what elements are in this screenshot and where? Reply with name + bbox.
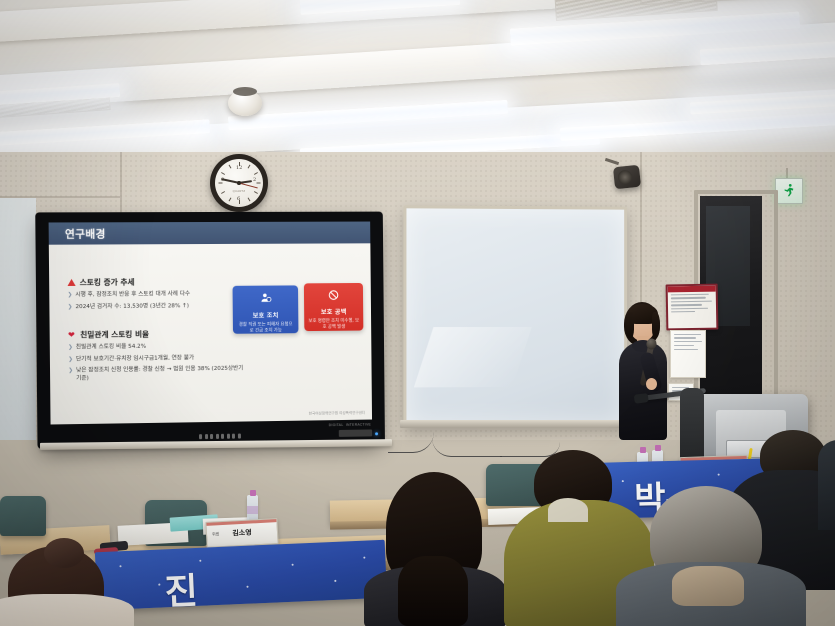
- card-title: 보호 공백: [308, 307, 359, 316]
- bullet-item: ❯ 2024년 검거자 수: 13,530명 (3년간 28% ↑): [68, 302, 239, 311]
- face-profile: [672, 566, 744, 606]
- ceiling-dome-sensor: [228, 90, 262, 116]
- heart-icon: ❤: [68, 331, 76, 339]
- wall-speaker: [613, 165, 641, 190]
- user-shield-icon: [237, 291, 295, 307]
- clock-brand: QUARTZ: [233, 189, 246, 193]
- chevron-right-icon: ❯: [68, 292, 73, 300]
- card-subtitle: 보호 명령만 조치 미수행, 보호 공백 발생: [308, 319, 359, 332]
- bullet-item: ❯ 시행 후, 잠정조치 반응 후 스토킹 대개 사례 다수: [68, 291, 239, 300]
- slide-footer: 한국여성정책연구원 여성폭력연구센터: [309, 411, 365, 417]
- placard-name: 김소영: [232, 528, 252, 539]
- display-control-buttons[interactable]: [199, 434, 240, 440]
- slide-screen: 연구배경 스토킹 증가 추세 ❯ 시행 후, 잠정조치 반응 후 스토킹 대개 …: [49, 222, 372, 425]
- wall-clock: 12 2 6 9 QUARTZ: [210, 154, 268, 212]
- cable: [432, 438, 502, 457]
- chevron-right-icon: ❯: [68, 344, 73, 352]
- section-heading: 친밀관계 스토킹 비율: [80, 329, 149, 341]
- display-brand-label: DIGITAL INTERACTIVE: [329, 423, 371, 428]
- chair[interactable]: [0, 496, 46, 536]
- prohibition-icon: [308, 289, 359, 304]
- clock-center-pin: [237, 181, 240, 184]
- hair-bun: [44, 538, 84, 568]
- presenter-hand: [646, 378, 657, 390]
- bullet-text: 시행 후, 잠정조치 반응 후 스토킹 대개 사례 다수: [75, 291, 190, 299]
- bullet-text: 친밀관계 스토킹 비율 54.2%: [76, 344, 146, 352]
- slide-title: 연구배경: [65, 226, 106, 241]
- clock-number: 6: [237, 196, 240, 202]
- card-subtitle: 경찰 직권 또는 피해자 요청으로 긴급 조치 가능: [237, 322, 295, 335]
- presenter-hair-side-left: [625, 312, 634, 338]
- slide-section-ratio: ❤ 친밀관계 스토킹 비율 ❯ 친밀관계 스토킹 비율 54.2% ❯ 단기적 …: [68, 328, 247, 383]
- running-person-icon: [782, 183, 797, 200]
- banner-text: 진: [163, 562, 198, 610]
- clock-face: 12 2 6 9 QUARTZ: [215, 159, 263, 207]
- name-placard-left: 위원 김소영: [205, 518, 278, 548]
- card-title: 보호 조치: [237, 310, 295, 319]
- bullet-item: ❯ 단기적 보호기간·유치장 임시구금1개월, 연장 불가: [68, 354, 247, 364]
- section-heading-row: ❤ 친밀관계 스토킹 비율: [68, 328, 247, 341]
- clock-number: 12: [236, 165, 242, 171]
- notice-header: [668, 286, 716, 293]
- chevron-right-icon: ❯: [68, 304, 73, 312]
- chevron-right-icon: ❯: [68, 368, 73, 383]
- bullet-text: 단기적 보호기간·유치장 임시구금1개월, 연장 불가: [76, 355, 194, 364]
- bullet-text: 2024년 검거자 수: 13,530명 (3년간 28% ↑): [75, 303, 189, 312]
- slide-section-trend: 스토킹 증가 추세 ❯ 시행 후, 잠정조치 반응 후 스토킹 대개 사례 다수…: [67, 276, 238, 311]
- display-power-led: [375, 432, 378, 435]
- warning-triangle-icon: [67, 279, 75, 286]
- bullet-text: 낮은 잠정조치 신청 인용률: 경찰 신청 → 법원 인용 38% (2025상…: [76, 366, 247, 383]
- presenter-speaking: [608, 300, 678, 440]
- emergency-exit-sign: [775, 178, 803, 204]
- presenter-hair-side-right: [652, 312, 660, 338]
- chevron-right-icon: ❯: [68, 356, 73, 364]
- card-protection-measure: 보호 조치 경찰 직권 또는 피해자 요청으로 긴급 조치 가능: [233, 285, 299, 333]
- presentation-display[interactable]: 연구배경 스토킹 증가 추세 ❯ 시행 후, 잠정조치 반응 후 스토킹 대개 …: [39, 215, 381, 446]
- section-heading: 스토킹 증가 추세: [80, 276, 135, 287]
- shirt-collar: [548, 498, 588, 522]
- ceiling: [0, 0, 835, 152]
- placard-role: 위원: [212, 532, 220, 538]
- slide-body: 스토킹 증가 추세 ❯ 시행 후, 잠정조치 반응 후 스토킹 대개 사례 다수…: [49, 243, 372, 424]
- card-protection-gap: 보호 공백 보호 명령만 조치 미수행, 보호 공백 발생: [304, 283, 363, 331]
- whiteboard-marker-tray: [400, 420, 628, 428]
- whiteboard[interactable]: [403, 205, 627, 427]
- clock-second-hand: [239, 183, 258, 189]
- conference-room-photo: 12 2 6 9 QUARTZ: [0, 0, 835, 626]
- hair-strands: [398, 556, 468, 626]
- exit-running-figure-icon: [782, 183, 797, 198]
- bullet-item: ❯ 친밀관계 스토킹 비율 54.2%: [68, 343, 247, 352]
- bullet-item: ❯ 낮은 잠정조치 신청 인용률: 경찰 신청 → 법원 인용 38% (202…: [68, 366, 247, 383]
- section-heading-row: 스토킹 증가 추세: [67, 276, 238, 288]
- wall-left-panel: [0, 198, 36, 448]
- display-io-panel[interactable]: [339, 429, 372, 436]
- clock-number: 2: [253, 177, 256, 183]
